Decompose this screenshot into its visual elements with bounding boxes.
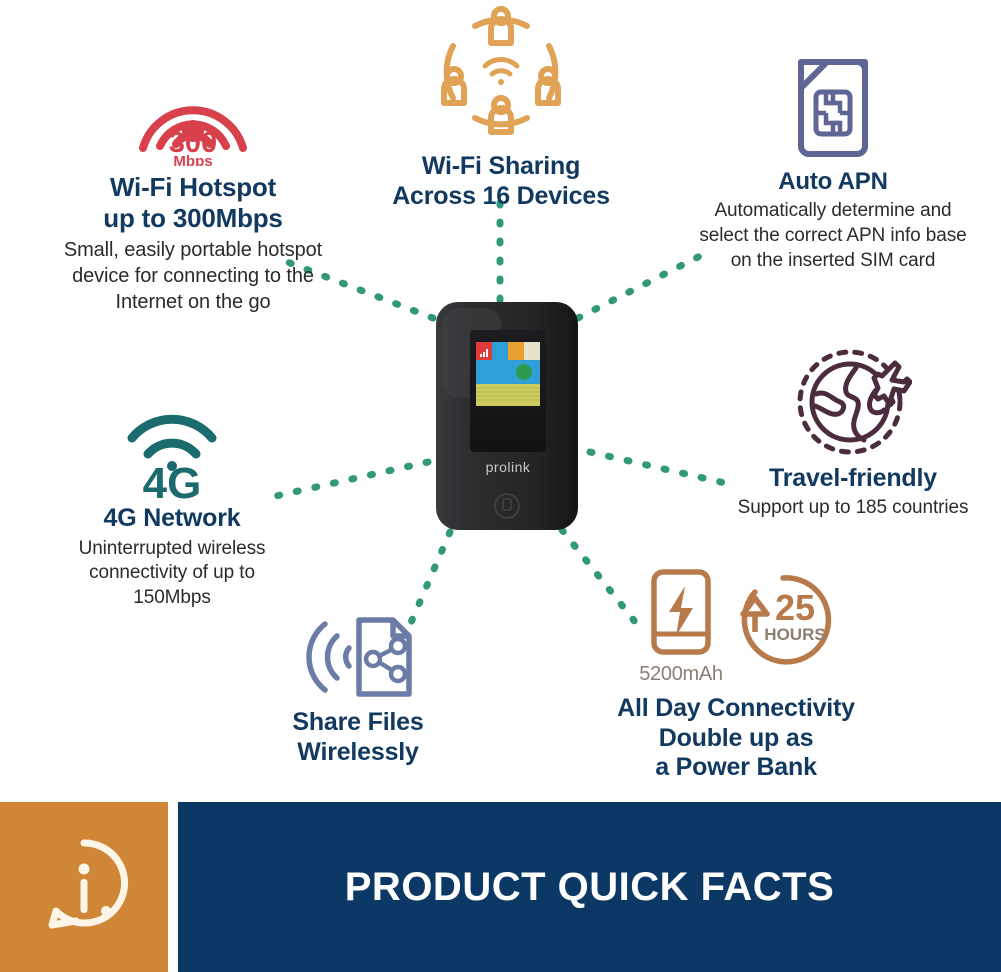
feature-power-bank: 5200mAh 25 HOURS All Day Connectivity Do…: [586, 566, 886, 785]
battery-capacity-label: 5200mAh: [639, 663, 723, 686]
feature-title-line2: Double up as: [659, 724, 814, 752]
feature-travel-friendly: Travel-friendly Support up to 185 countr…: [730, 344, 976, 520]
bottom-banner: PRODUCT QUICK FACTS: [0, 802, 1001, 972]
hours-unit: HOURS: [764, 625, 825, 644]
feature-title: Auto APN: [692, 168, 974, 196]
file-share-wireless-icon: [299, 612, 417, 702]
feature-title: Share Files Wirelessly: [252, 708, 464, 767]
feature-title-line2: Across 16 Devices: [392, 182, 610, 210]
info-speech-bubble-icon: [36, 835, 132, 939]
hours-value: 25: [775, 587, 815, 628]
feature-title-line1: All Day Connectivity: [617, 694, 855, 722]
globe-airplane-icon: [794, 344, 912, 456]
connector-to-apn: [578, 256, 700, 318]
feature-title-line2: Wirelessly: [297, 738, 418, 766]
device-screen-content: [476, 342, 540, 406]
airplane-icon: [874, 363, 910, 405]
connector-to-4g: [276, 462, 428, 496]
icon-container: 5200mAh 25 HOURS: [586, 566, 886, 686]
4g-signal-icon: 4G: [122, 408, 222, 500]
connector-to-travel: [590, 452, 738, 486]
banner-icon-block: [0, 802, 168, 972]
feature-description: Small, easily portable hotspot device fo…: [62, 237, 324, 315]
banner-title: PRODUCT QUICK FACTS: [345, 865, 835, 910]
network-generation-label: 4G: [143, 459, 202, 500]
feature-title: Wi-Fi Hotspot up to 300Mbps: [62, 172, 324, 233]
feature-title-line1: Wi-Fi Hotspot: [110, 172, 276, 202]
wifi-sharing-users-icon: [431, 4, 571, 140]
feature-wifi-hotspot: 300 Mbps Wi-Fi Hotspot up to 300Mbps Sma…: [62, 56, 324, 315]
icon-container: 300 Mbps: [62, 56, 324, 166]
infographic-canvas: 300 Mbps Wi-Fi Hotspot up to 300Mbps Sma…: [0, 0, 1001, 972]
feature-title: Wi-Fi Sharing Across 16 Devices: [378, 152, 624, 211]
sim-card-icon: [793, 48, 873, 160]
feature-title-line1: Share Files: [292, 708, 423, 736]
wifi-waves-300mbps-icon: 300 Mbps: [130, 56, 256, 166]
icon-container: 4G: [52, 408, 292, 500]
feature-title-line1: Wi-Fi Sharing: [422, 152, 580, 180]
info-period-dot: [101, 906, 111, 916]
info-dot: [79, 864, 90, 875]
feature-auto-apn: Auto APN Automatically determine and sel…: [692, 48, 974, 273]
badge-unit: Mbps: [173, 153, 212, 166]
feature-description: Support up to 185 countries: [730, 496, 976, 521]
feature-share-files: Share Files Wirelessly: [252, 612, 464, 769]
banner-title-block: PRODUCT QUICK FACTS: [178, 802, 1001, 972]
feature-title: 4G Network: [52, 504, 292, 534]
feature-description: Automatically determine and select the c…: [692, 199, 974, 273]
wireless-waves-icon: [309, 624, 349, 690]
feature-title: All Day Connectivity Double up as a Powe…: [586, 694, 886, 783]
powerbank-battery-icon: [647, 566, 715, 658]
product-device-image: prolink: [432, 300, 582, 532]
person-top: [491, 9, 511, 43]
feature-title: Travel-friendly: [730, 464, 976, 494]
feature-4g-network: 4G 4G Network Uninterrupted wireless con…: [52, 408, 292, 611]
icon-container: [692, 48, 974, 160]
icon-container: [730, 344, 976, 456]
feature-wifi-sharing: Wi-Fi Sharing Across 16 Devices: [378, 4, 624, 213]
feature-title-line2: up to 300Mbps: [103, 203, 282, 233]
icon-container: [378, 4, 624, 140]
device-brand-label: prolink: [486, 459, 531, 475]
center-wifi-dot: [498, 79, 504, 85]
feature-description: Uninterrupted wireless connectivity of u…: [52, 537, 292, 611]
center-wifi-icon: [485, 60, 517, 74]
icon-container: [252, 612, 464, 702]
25-hours-circle-icon: 25 HOURS: [733, 570, 833, 670]
lightning-bolt-icon: [669, 586, 693, 636]
feature-title-line3: a Power Bank: [655, 753, 817, 781]
info-stem: [81, 879, 88, 913]
